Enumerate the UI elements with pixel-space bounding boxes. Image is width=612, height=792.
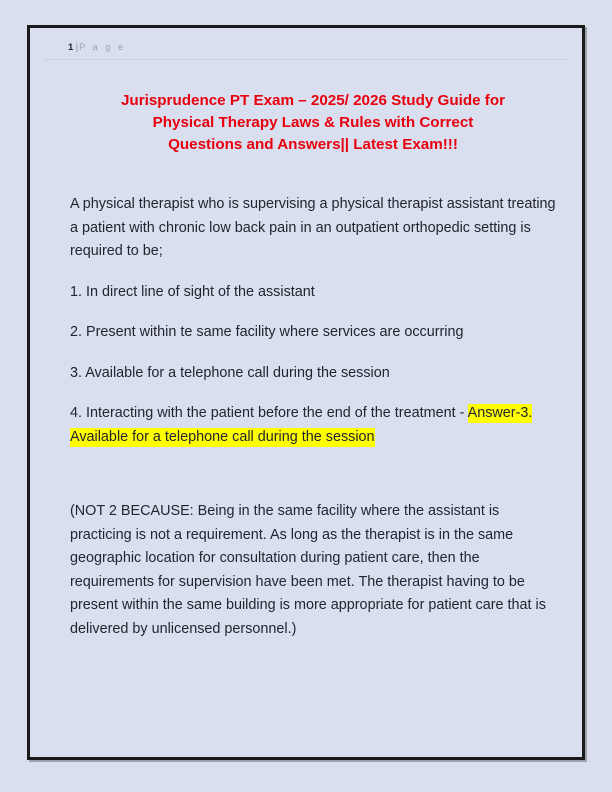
- header-divider: [44, 59, 568, 60]
- header-page-number: 1: [68, 42, 74, 53]
- option-item-3: 3. Available for a telephone call during…: [70, 362, 556, 386]
- document-body: Jurisprudence PT Exam – 2025/ 2026 Study…: [44, 90, 568, 641]
- option-item-1: 1. In direct line of sight of the assist…: [70, 281, 556, 305]
- explanation-text: (NOT 2 BECAUSE: Being in the same facili…: [70, 500, 556, 641]
- header-page-word: P a g e: [79, 42, 126, 52]
- page-header: 1|P a g e: [44, 37, 568, 57]
- document-page-frame: 1|P a g e Jurisprudence PT Exam – 2025/ …: [27, 25, 585, 760]
- page-inner: 1|P a g e Jurisprudence PT Exam – 2025/ …: [30, 28, 582, 757]
- option-item-2: 2. Present within te same facility where…: [70, 321, 556, 345]
- option-4-text: 4. Interacting with the patient before t…: [70, 405, 468, 421]
- title-line-1: Jurisprudence PT Exam – 2025/ 2026 Study…: [84, 90, 542, 112]
- document-title: Jurisprudence PT Exam – 2025/ 2026 Study…: [70, 90, 556, 156]
- option-item-4: 4. Interacting with the patient before t…: [70, 402, 556, 449]
- title-line-2: Physical Therapy Laws & Rules with Corre…: [84, 112, 542, 134]
- question-text: A physical therapist who is supervising …: [70, 193, 556, 264]
- title-line-3: Questions and Answers|| Latest Exam!!!: [84, 134, 542, 156]
